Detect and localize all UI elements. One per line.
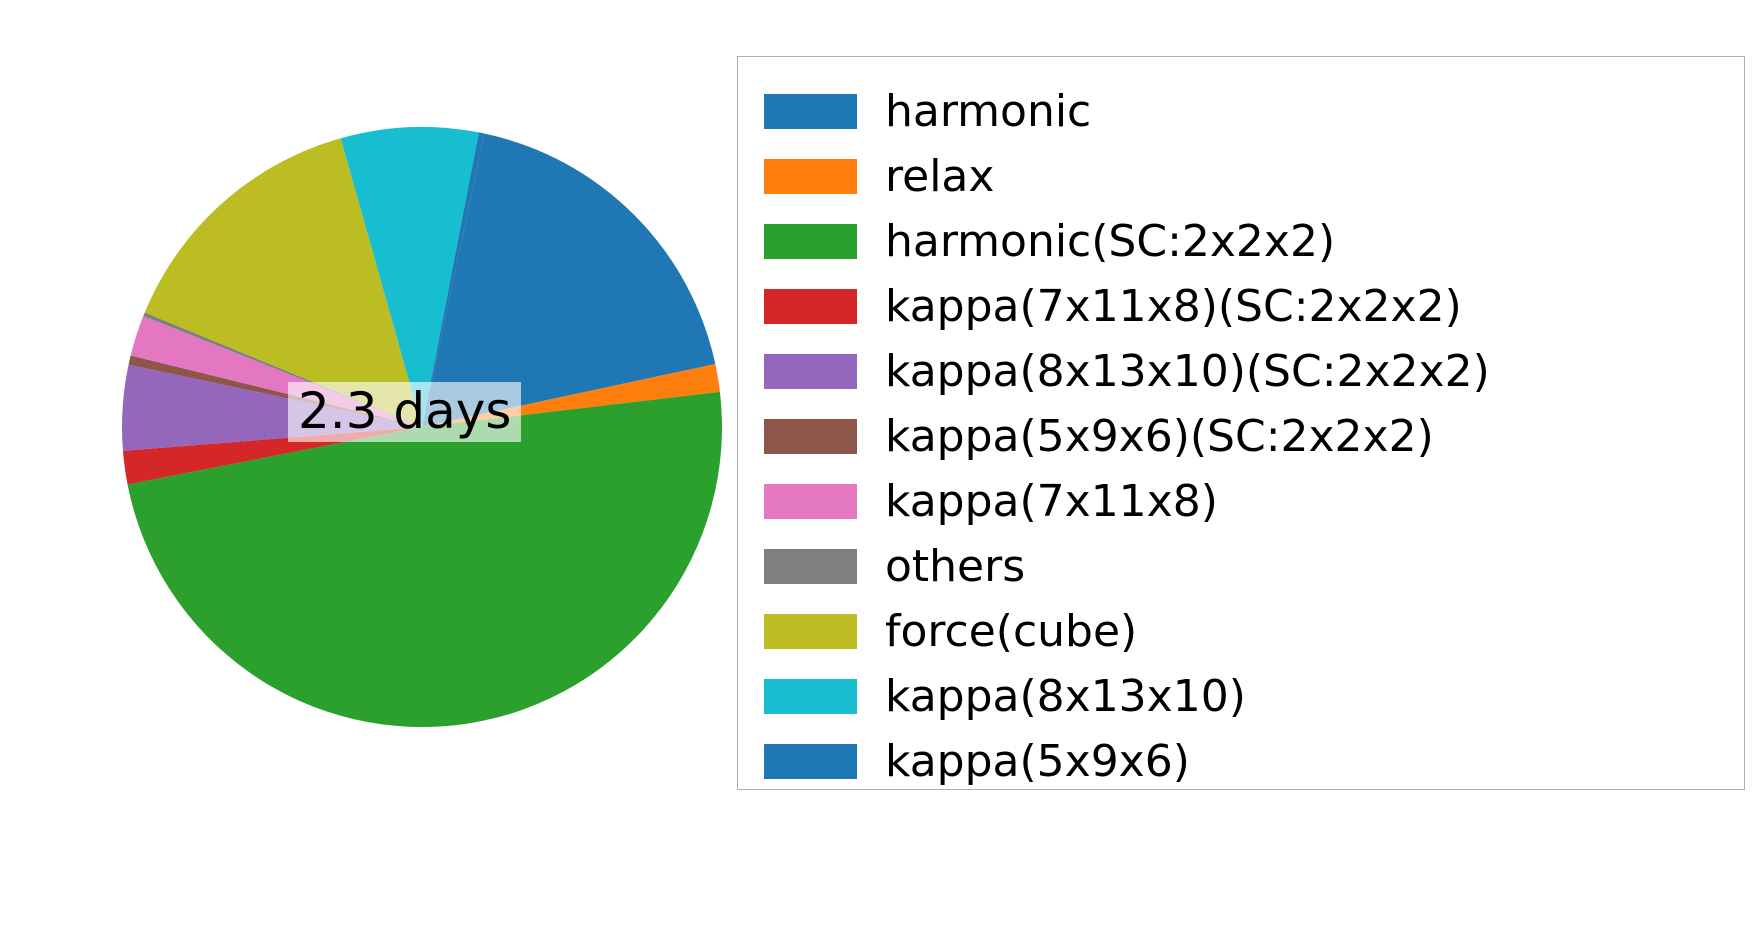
legend-item-label: kappa(8x13x10)(SC:2x2x2) — [885, 350, 1490, 394]
legend-item-label: force(cube) — [885, 610, 1137, 654]
legend-item[interactable]: kappa(7x11x8)(SC:2x2x2) — [738, 274, 1744, 339]
legend-item-label: others — [885, 545, 1025, 589]
legend-color-swatch — [764, 484, 857, 519]
legend-item[interactable]: relax — [738, 144, 1744, 209]
legend-item[interactable]: kappa(5x9x6) — [738, 729, 1744, 794]
legend-item[interactable]: kappa(8x13x10) — [738, 664, 1744, 729]
legend-color-swatch — [764, 679, 857, 714]
legend-item[interactable]: others — [738, 534, 1744, 599]
legend-color-swatch — [764, 94, 857, 129]
legend-item[interactable]: force(cube) — [738, 599, 1744, 664]
legend-color-swatch — [764, 289, 857, 324]
legend-color-swatch — [764, 744, 857, 779]
figure-canvas: 2.3 days harmonicrelaxharmonic(SC:2x2x2)… — [0, 0, 1759, 951]
pie-chart-svg — [0, 0, 740, 951]
pie-chart-area: 2.3 days — [0, 0, 740, 951]
legend-color-swatch — [764, 224, 857, 259]
legend-item-label: kappa(7x11x8) — [885, 480, 1218, 524]
legend-item-label: harmonic(SC:2x2x2) — [885, 220, 1335, 264]
pie-center-label: 2.3 days — [288, 382, 521, 442]
legend-color-swatch — [764, 159, 857, 194]
legend-item-list: harmonicrelaxharmonic(SC:2x2x2)kappa(7x1… — [738, 79, 1744, 794]
chart-legend: harmonicrelaxharmonic(SC:2x2x2)kappa(7x1… — [737, 56, 1745, 790]
legend-color-swatch — [764, 419, 857, 454]
legend-item[interactable]: kappa(8x13x10)(SC:2x2x2) — [738, 339, 1744, 404]
legend-item-label: relax — [885, 155, 994, 199]
legend-item-label: harmonic — [885, 90, 1091, 134]
legend-item-label: kappa(8x13x10) — [885, 675, 1246, 719]
legend-item[interactable]: kappa(7x11x8) — [738, 469, 1744, 534]
legend-color-swatch — [764, 354, 857, 389]
legend-item[interactable]: harmonic(SC:2x2x2) — [738, 209, 1744, 274]
legend-item[interactable]: kappa(5x9x6)(SC:2x2x2) — [738, 404, 1744, 469]
legend-item-label: kappa(5x9x6)(SC:2x2x2) — [885, 415, 1434, 459]
legend-color-swatch — [764, 549, 857, 584]
legend-item-label: kappa(7x11x8)(SC:2x2x2) — [885, 285, 1462, 329]
legend-color-swatch — [764, 614, 857, 649]
legend-item[interactable]: harmonic — [738, 79, 1744, 144]
legend-item-label: kappa(5x9x6) — [885, 740, 1190, 784]
